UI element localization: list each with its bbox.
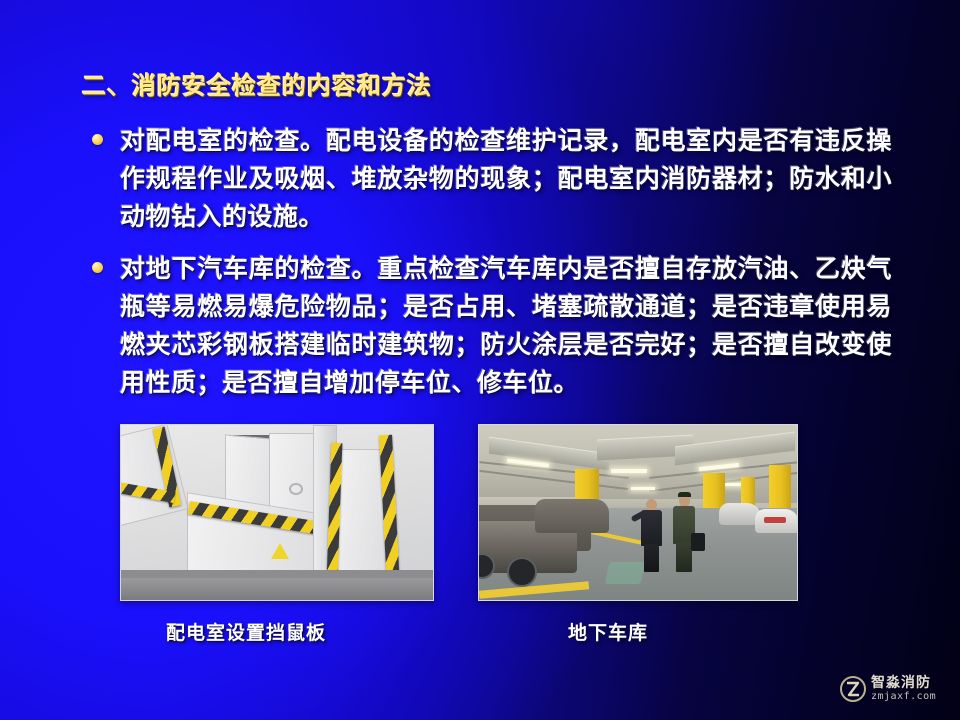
list-item: 对配电室的检查。配电设备的检查维护记录，配电室内是否有违反操作规程作业及吸烟、堆… — [92, 122, 892, 236]
photo-electrical-room — [120, 424, 434, 601]
photo-ceiling-light — [631, 487, 655, 490]
photo-person-bag — [691, 533, 705, 551]
bullet-dot-icon — [92, 134, 103, 145]
bullet-list: 对配电室的检查。配电设备的检查维护记录，配电室内是否有违反操作规程作业及吸烟、堆… — [92, 122, 892, 416]
list-item: 对地下汽车库的检查。重点检查汽车库内是否擅自存放汽油、乙炔气瓶等易燃易爆危险物品… — [92, 250, 892, 402]
photo-caption-right: 地下车库 — [568, 618, 648, 645]
photo-person-legs — [676, 542, 692, 572]
brand-logo-icon — [840, 676, 866, 702]
photo-person-uniform — [671, 495, 697, 573]
watermark: 智淼消防 zmjaxf.com — [840, 676, 936, 702]
photo-column-yellow — [769, 465, 791, 513]
photo-underground-garage — [478, 424, 798, 601]
photo-skirting — [121, 570, 433, 578]
page-title: 二、消防安全检查的内容和方法 — [82, 66, 432, 101]
photo-ceiling-light — [611, 469, 647, 473]
photo-floor — [121, 578, 433, 600]
photo-door-handle-icon — [289, 483, 303, 495]
watermark-url: zmjaxf.com — [871, 692, 936, 702]
photo-person-cap — [678, 492, 691, 497]
bullet-text: 对配电室的检查。配电设备的检查维护记录，配电室内是否有违反操作规程作业及吸烟、堆… — [120, 122, 892, 236]
photo-person-legs — [644, 544, 659, 572]
watermark-brand: 智淼消防 — [871, 676, 936, 690]
bullet-text: 对地下汽车库的检查。重点检查汽车库内是否擅自存放汽油、乙炔气瓶等易燃易爆危险物品… — [120, 250, 892, 402]
photo-caption-left: 配电室设置挡鼠板 — [166, 618, 326, 645]
photo-car — [535, 499, 609, 533]
watermark-text: 智淼消防 zmjaxf.com — [871, 676, 936, 702]
photo-warning-sign-icon — [271, 543, 289, 559]
slide-canvas: 二、消防安全检查的内容和方法 对配电室的检查。配电设备的检查维护记录，配电室内是… — [0, 0, 960, 720]
photo-car-wheel — [507, 557, 537, 587]
bullet-dot-icon — [92, 262, 103, 273]
photo-person-suit — [639, 499, 663, 571]
photo-car-plate — [764, 517, 786, 523]
